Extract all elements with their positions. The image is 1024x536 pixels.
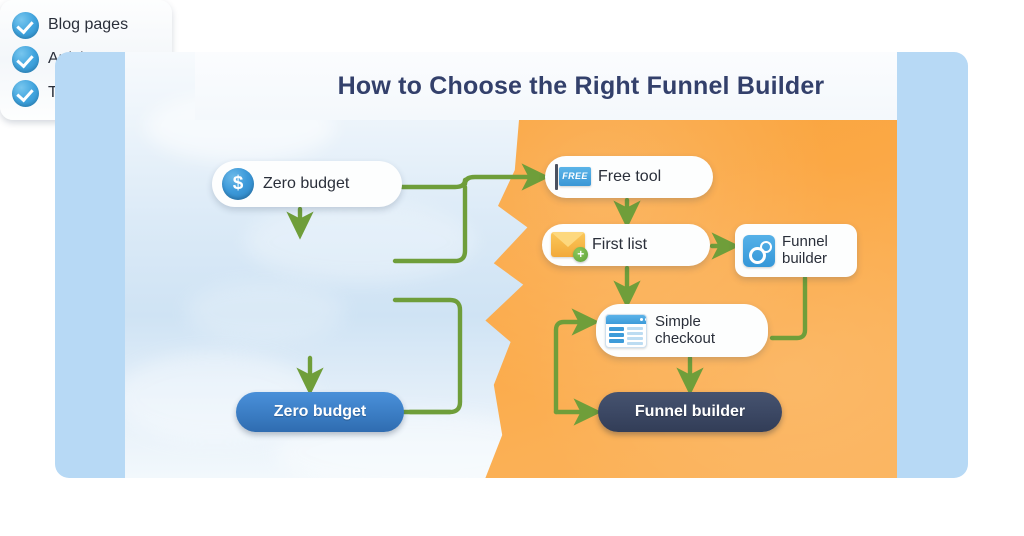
check-icon <box>12 80 39 107</box>
title-band: How to Choose the Right Funnel Builder <box>195 52 897 120</box>
node-label: Zero budget <box>263 175 349 193</box>
gears-icon <box>743 235 775 267</box>
node-funnel-builder-card[interactable]: Funnel builder <box>735 224 857 277</box>
node-label-line1: Funnel <box>782 233 828 250</box>
cloud-decoration <box>185 282 345 342</box>
dollar-icon: $ <box>222 168 254 200</box>
node-label: Funnel builder <box>635 403 745 421</box>
browser-window-icon <box>605 314 647 348</box>
check-icon <box>12 46 39 73</box>
node-simple-checkout[interactable]: Simple checkout <box>596 304 768 357</box>
node-label: First list <box>592 236 647 254</box>
list-item-label: Blog pages <box>48 16 128 34</box>
check-icon <box>12 12 39 39</box>
page-title: How to Choose the Right Funnel Builder <box>338 72 825 101</box>
node-first-list[interactable]: + First list <box>542 224 710 266</box>
node-zero-budget-top[interactable]: $ Zero budget <box>212 161 402 207</box>
node-label: Simple checkout <box>655 314 715 348</box>
free-ticket-icon: FREE <box>555 164 591 190</box>
node-label-line2: builder <box>782 250 827 267</box>
node-label-line2: checkout <box>655 330 715 347</box>
node-label-line1: Simple <box>655 313 701 330</box>
free-badge-label: FREE <box>559 167 591 186</box>
node-label: Zero budget <box>274 403 366 421</box>
node-zero-budget-pill[interactable]: Zero budget <box>236 392 404 432</box>
mail-plus-icon: + <box>551 232 585 259</box>
cloud-decoration <box>245 202 475 282</box>
node-label: Funnel builder <box>782 234 828 268</box>
node-funnel-builder-pill[interactable]: Funnel builder <box>598 392 782 432</box>
node-label: Free tool <box>598 168 661 186</box>
infographic-canvas: How to Choose the Right Funnel Builder .… <box>0 0 1024 536</box>
node-free-tool[interactable]: FREE Free tool <box>545 156 713 198</box>
list-item[interactable]: Blog pages <box>12 8 172 42</box>
